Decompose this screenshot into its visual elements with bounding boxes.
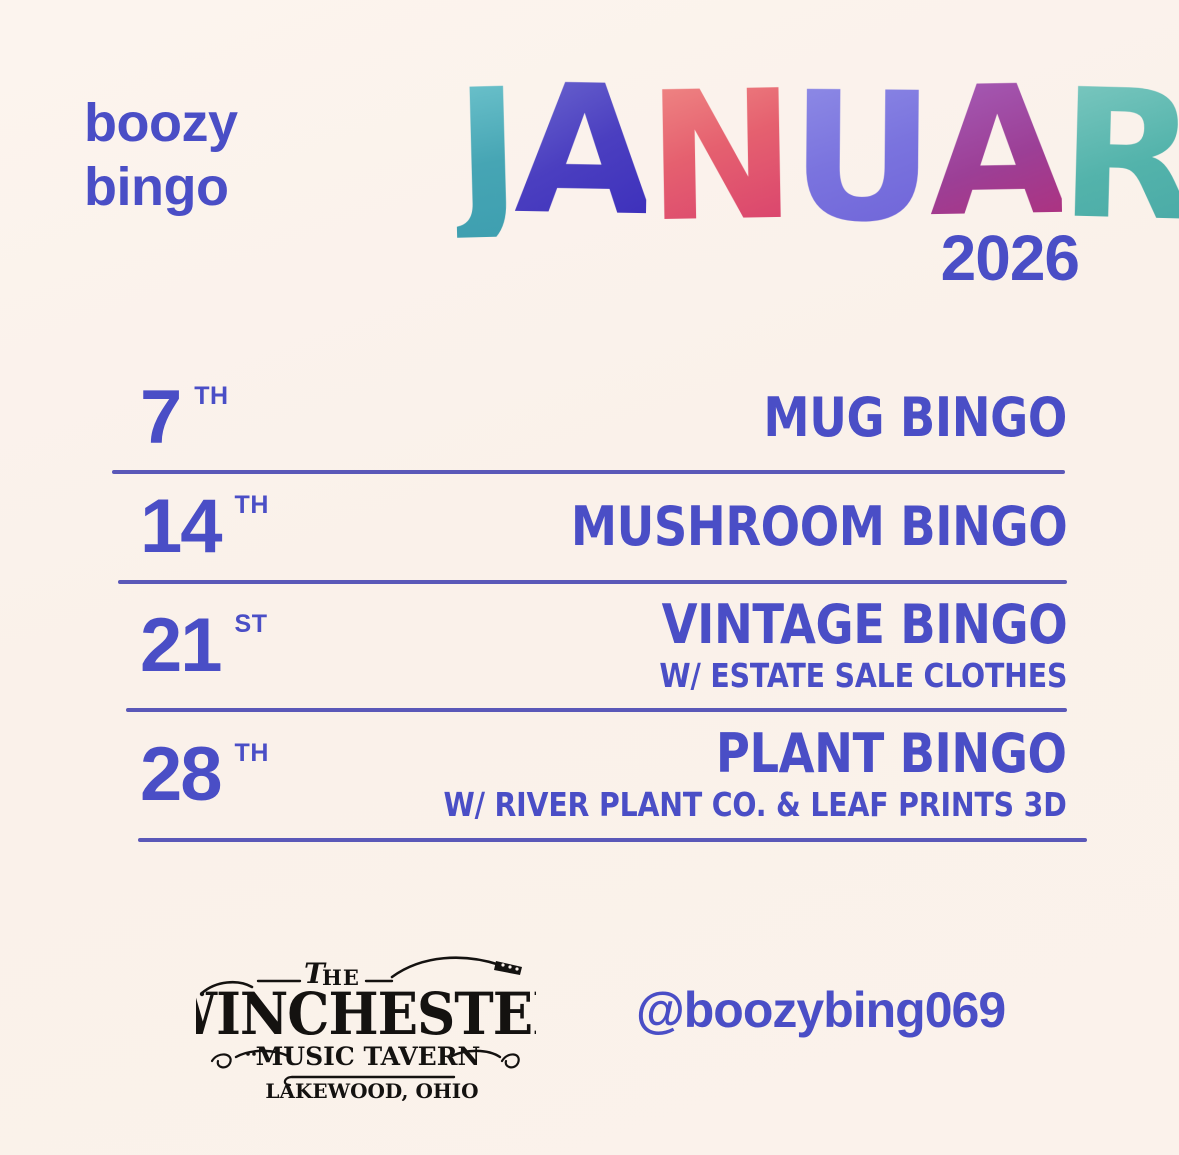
event-date-1: 7 TH bbox=[140, 380, 229, 456]
footer: T HE WINCHESTER MUSIC TAVERN LAKE bbox=[0, 933, 1179, 1113]
schedule-row-1: 7 TH MUG BINGO bbox=[0, 366, 1179, 470]
month-letter-a-2: A bbox=[927, 69, 1062, 235]
month-letter-j: J bbox=[453, 72, 518, 237]
event-day-1: 7 bbox=[140, 380, 180, 456]
event-info-4: PLANT BINGO W/ RIVER PLANT CO. & LEAF PR… bbox=[342, 726, 1067, 823]
event-title-2: MUSHROOM BINGO bbox=[571, 499, 1067, 554]
event-day-3: 21 bbox=[140, 608, 221, 684]
schedule-row-4: 28 TH PLANT BINGO W/ RIVER PLANT CO. & L… bbox=[0, 712, 1179, 838]
event-subtitle-4: W/ RIVER PLANT CO. & LEAF PRINTS 3D bbox=[444, 786, 1067, 824]
event-info-3: VINTAGE BINGO W/ ESTATE SALE CLOTHES bbox=[593, 597, 1067, 694]
month-letters: J A N U A R Y bbox=[455, 52, 1105, 237]
month-letter-n: N bbox=[646, 74, 792, 240]
schedule-row-3: 21 ST VINTAGE BINGO W/ ESTATE SALE CLOTH… bbox=[0, 584, 1179, 708]
divider-4 bbox=[138, 838, 1087, 842]
event-info-2: MUSHROOM BINGO bbox=[490, 499, 1067, 554]
instagram-handle: @boozybing069 bbox=[636, 985, 1005, 1035]
event-title-3: VINTAGE BINGO bbox=[659, 597, 1067, 652]
poster-canvas: boozy bingo J A N U A R Y 2026 7 TH MUG … bbox=[0, 0, 1179, 1155]
month-letter-r: R bbox=[1058, 73, 1179, 240]
event-date-2: 14 TH bbox=[140, 489, 269, 565]
svg-text:WINCHESTER: WINCHESTER bbox=[196, 981, 536, 1049]
brand-line-2: bingo bbox=[84, 156, 238, 220]
event-day-suffix-2: TH bbox=[235, 493, 269, 518]
month-letter-u: U bbox=[789, 76, 929, 241]
event-subtitle-3: W/ ESTATE SALE CLOTHES bbox=[659, 657, 1067, 695]
event-day-suffix-4: TH bbox=[235, 741, 269, 766]
event-day-suffix-3: ST bbox=[235, 612, 268, 637]
year-label: 2026 bbox=[941, 226, 1079, 290]
schedule-row-2: 14 TH MUSHROOM BINGO bbox=[0, 474, 1179, 580]
month-letter-a-1: A bbox=[514, 68, 649, 234]
event-day-2: 14 bbox=[140, 489, 221, 565]
brand-wordmark: boozy bingo bbox=[84, 92, 238, 219]
event-day-suffix-1: TH bbox=[194, 384, 228, 409]
event-day-4: 28 bbox=[140, 737, 221, 813]
event-info-1: MUG BINGO bbox=[714, 390, 1067, 445]
winchester-logo: T HE WINCHESTER MUSIC TAVERN LAKE bbox=[196, 941, 536, 1101]
event-title-4: PLANT BINGO bbox=[444, 726, 1067, 781]
svg-text:MUSIC TAVERN: MUSIC TAVERN bbox=[256, 1042, 481, 1071]
event-date-4: 28 TH bbox=[140, 737, 269, 813]
month-title: J A N U A R Y bbox=[455, 52, 1105, 237]
svg-text:LAKEWOOD, OHIO: LAKEWOOD, OHIO bbox=[265, 1079, 478, 1101]
event-title-1: MUG BINGO bbox=[764, 390, 1067, 445]
event-date-3: 21 ST bbox=[140, 608, 268, 684]
schedule-list: 7 TH MUG BINGO 14 TH MUSHROOM BINGO bbox=[0, 366, 1179, 842]
brand-line-1: boozy bbox=[84, 92, 238, 156]
